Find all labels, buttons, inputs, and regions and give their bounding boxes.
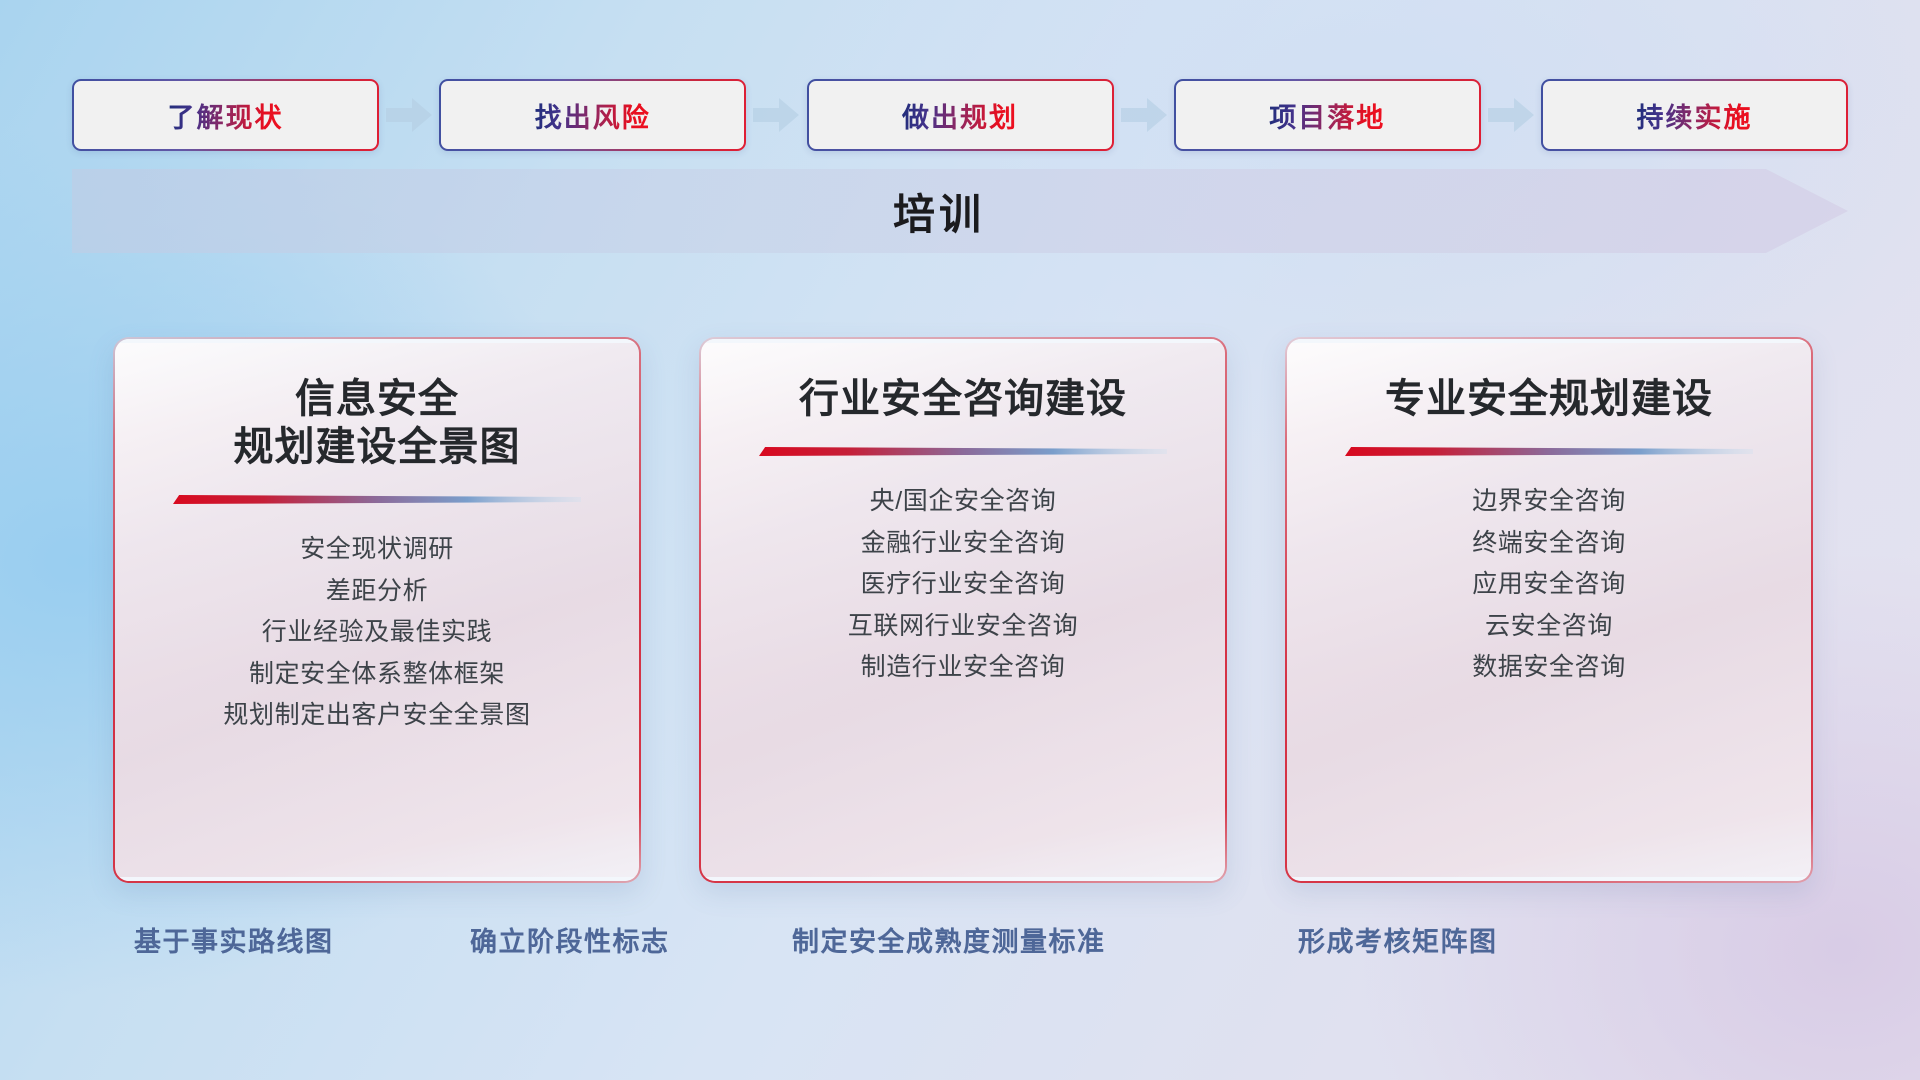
card-2[interactable]: 行业安全咨询建设 央/国企安全咨询: [699, 337, 1227, 883]
step-label-4: 项目落地: [1269, 96, 1385, 135]
process-step-bar: 了解现状 找出风险 做出规划 项目落地: [72, 79, 1848, 151]
list-item: 医疗行业安全咨询: [701, 564, 1225, 606]
list-item: 互联网行业安全咨询: [701, 606, 1225, 648]
footer-label-1: 基于事实路线图: [134, 920, 334, 959]
card-2-inner: 行业安全咨询建设 央/国企安全咨询: [701, 339, 1225, 881]
list-item: 终端安全咨询: [1287, 523, 1811, 565]
list-item: 制造行业安全咨询: [701, 647, 1225, 689]
footer-label-2: 确立阶段性标志: [470, 920, 670, 959]
list-item: 数据安全咨询: [1287, 647, 1811, 689]
footer-label-3: 制定安全成熟度测量标准: [792, 920, 1106, 959]
card-row: 信息安全 规划建设全景图 安全现状调研: [113, 337, 1813, 883]
gradient-divider-icon: [1345, 445, 1754, 459]
list-item: 规划制定出客户安全全景图: [115, 695, 639, 737]
card-1-title: 信息安全 规划建设全景图: [234, 375, 521, 471]
card-2-title: 行业安全咨询建设: [799, 375, 1127, 423]
step-label-1: 了解现状: [168, 96, 284, 135]
step-inner-5: 持续实施: [1543, 81, 1846, 149]
step-inner-4: 项目落地: [1176, 81, 1479, 149]
arrow-right-icon: [386, 98, 432, 132]
banner-title: 培训: [72, 169, 1848, 253]
step-box-1[interactable]: 了解现状: [72, 79, 379, 151]
list-item: 行业经验及最佳实践: [115, 612, 639, 654]
gradient-divider-icon: [173, 493, 582, 507]
card-2-divider: [759, 445, 1168, 459]
list-item: 差距分析: [115, 571, 639, 613]
card-1-list: 安全现状调研 差距分析 行业经验及最佳实践 制定安全体系整体框架 规划制定出客户…: [115, 529, 639, 737]
gradient-divider-icon: [759, 445, 1168, 459]
list-item: 安全现状调研: [115, 529, 639, 571]
footer-label-4: 形成考核矩阵图: [1298, 920, 1498, 959]
step-inner-3: 做出规划: [809, 81, 1112, 149]
card-3-divider: [1345, 445, 1754, 459]
list-item: 云安全咨询: [1287, 606, 1811, 648]
step-arrow-4: [1481, 98, 1541, 132]
step-arrow-3: [1114, 98, 1174, 132]
footer-label-row: 基于事实路线图 确立阶段性标志 制定安全成熟度测量标准 形成考核矩阵图: [0, 920, 1920, 972]
step-inner-2: 找出风险: [441, 81, 744, 149]
list-item: 央/国企安全咨询: [701, 481, 1225, 523]
card-2-list: 央/国企安全咨询 金融行业安全咨询 医疗行业安全咨询 互联网行业安全咨询 制造行…: [701, 481, 1225, 689]
step-label-3: 做出规划: [902, 96, 1018, 135]
step-arrow-1: [379, 98, 439, 132]
step-inner-1: 了解现状: [74, 81, 377, 149]
card-3-title: 专业安全规划建设: [1385, 375, 1713, 423]
card-3-list: 边界安全咨询 终端安全咨询 应用安全咨询 云安全咨询 数据安全咨询: [1287, 481, 1811, 689]
step-label-5: 持续实施: [1637, 96, 1753, 135]
list-item: 应用安全咨询: [1287, 564, 1811, 606]
list-item: 金融行业安全咨询: [701, 523, 1225, 565]
list-item: 边界安全咨询: [1287, 481, 1811, 523]
card-1-divider: [173, 493, 582, 507]
arrow-right-icon: [753, 98, 799, 132]
step-arrow-2: [746, 98, 806, 132]
step-box-3[interactable]: 做出规划: [807, 79, 1114, 151]
step-box-5[interactable]: 持续实施: [1541, 79, 1848, 151]
training-banner: 培训: [72, 169, 1848, 253]
card-1-inner: 信息安全 规划建设全景图 安全现状调研: [115, 339, 639, 881]
step-box-2[interactable]: 找出风险: [439, 79, 746, 151]
card-1[interactable]: 信息安全 规划建设全景图 安全现状调研: [113, 337, 641, 883]
card-3[interactable]: 专业安全规划建设 边界安全咨询: [1285, 337, 1813, 883]
card-3-inner: 专业安全规划建设 边界安全咨询: [1287, 339, 1811, 881]
step-label-2: 找出风险: [535, 96, 651, 135]
list-item: 制定安全体系整体框架: [115, 654, 639, 696]
step-box-4[interactable]: 项目落地: [1174, 79, 1481, 151]
arrow-right-icon: [1121, 98, 1167, 132]
arrow-right-icon: [1488, 98, 1534, 132]
